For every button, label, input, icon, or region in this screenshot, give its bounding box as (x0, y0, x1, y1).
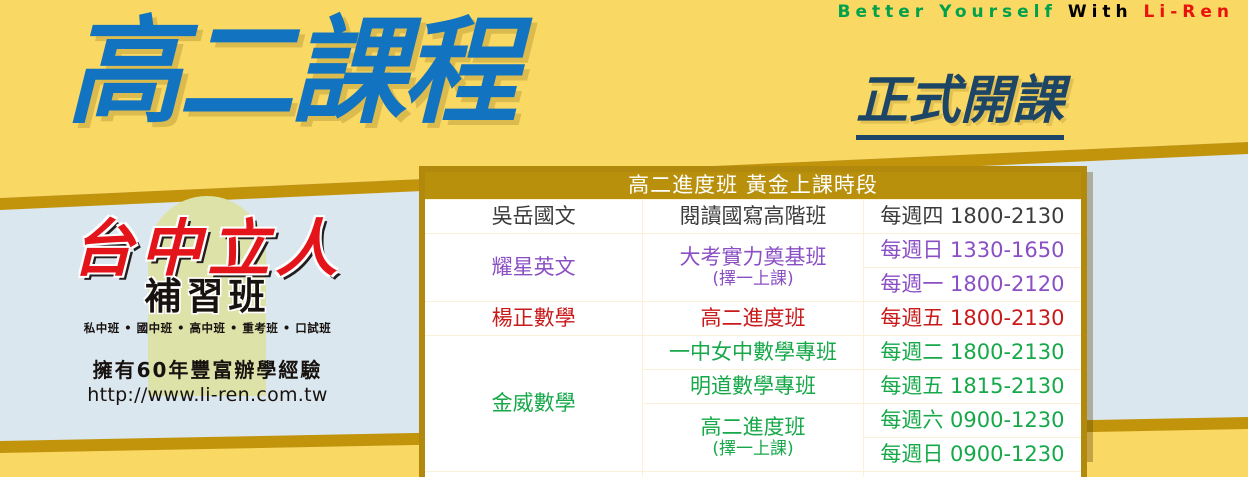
schedule-teacher-cell: 陳碩物理 (422, 471, 643, 477)
schedule-teacher-cell: 金威數學 (422, 335, 643, 471)
schedule-time-cell: 每週日 0900-1230 (863, 437, 1084, 471)
schedule-time-cell: 每週六 0900-1230 (863, 403, 1084, 437)
schedule-time-cell: 每週一 1800-2120 (863, 267, 1084, 301)
schedule-time-cell: 每週二 1800-2130 (863, 335, 1084, 369)
schedule-course-cell: 高二進度班(擇一上課) (643, 403, 864, 471)
schedule-time-cell: 每週五 1800-2130 (863, 301, 1084, 335)
table-row: 楊正數學高二進度班每週五 1800-2130 (422, 301, 1084, 335)
tagline-part-2: With (1068, 2, 1133, 22)
logo-experience: 擁有60年豐富辦學經驗 (0, 354, 415, 383)
schedule-header-title: 高二進度班 黃金上課時段 (422, 169, 1084, 199)
logo-name: 台中立人 (0, 218, 415, 280)
schedule-teacher-cell: 楊正數學 (422, 301, 643, 335)
schedule-course-cell: 大考實力奠基班(擇一上課) (643, 233, 864, 301)
schedule-teacher-cell: 吳岳國文 (422, 199, 643, 233)
schedule-table: 高二進度班 黃金上課時段 吳岳國文閱讀國寫高階班每週四 1800-2130耀星英… (419, 166, 1087, 477)
schedule-table-body: 吳岳國文閱讀國寫高階班每週四 1800-2130耀星英文大考實力奠基班(擇一上課… (422, 199, 1084, 477)
schedule-time-cell: 每週五 1815-2130 (863, 369, 1084, 403)
schedule-course-cell: 一中女中數學專班 (643, 335, 864, 369)
logo-type: 補習班 (0, 278, 415, 317)
logo: 台中立人 補習班 私中班 • 國中班 • 高中班 • 重考班 • 口試班 擁有6… (0, 218, 415, 406)
schedule-header-row: 高二進度班 黃金上課時段 (422, 169, 1084, 199)
schedule-course-cell: 閱讀國寫高階班 (643, 199, 864, 233)
page-subtitle: 正式開課 (856, 58, 1064, 140)
schedule-time-cell: 每週三 1800-2130 (863, 471, 1084, 477)
table-row: 金威數學一中女中數學專班每週二 1800-2130 (422, 335, 1084, 369)
tagline: Better Yourself With Li-Ren (838, 2, 1234, 22)
schedule-course-note: (擇一上課) (643, 269, 863, 289)
schedule-course-note: (擇一上課) (643, 439, 863, 459)
table-row: 吳岳國文閱讀國寫高階班每週四 1800-2130 (422, 199, 1084, 233)
tagline-part-3: Li-Ren (1144, 2, 1234, 22)
schedule-course-cell: 明道數學專班 (643, 369, 864, 403)
tagline-part-1: Better Yourself (838, 2, 1057, 22)
schedule-time-cell: 每週日 1330-1650 (863, 233, 1084, 267)
schedule-table-head: 高二進度班 黃金上課時段 (422, 169, 1084, 199)
page-title: 高二課程 (66, 12, 514, 134)
table-row: 陳碩物理高二進度班每週三 1800-2130 (422, 471, 1084, 477)
schedule-course-cell: 高二進度班 (643, 471, 864, 477)
logo-website-url[interactable]: http://www.li-ren.com.tw (0, 384, 415, 406)
schedule-teacher-cell: 耀星英文 (422, 233, 643, 301)
logo-class-list: 私中班 • 國中班 • 高中班 • 重考班 • 口試班 (0, 320, 415, 336)
schedule-time-cell: 每週四 1800-2130 (863, 199, 1084, 233)
schedule-course-cell: 高二進度班 (643, 301, 864, 335)
promo-banner: Better Yourself With Li-Ren 高二課程 正式開課 台中… (0, 0, 1248, 477)
table-row: 耀星英文大考實力奠基班(擇一上課)每週日 1330-1650 (422, 233, 1084, 267)
